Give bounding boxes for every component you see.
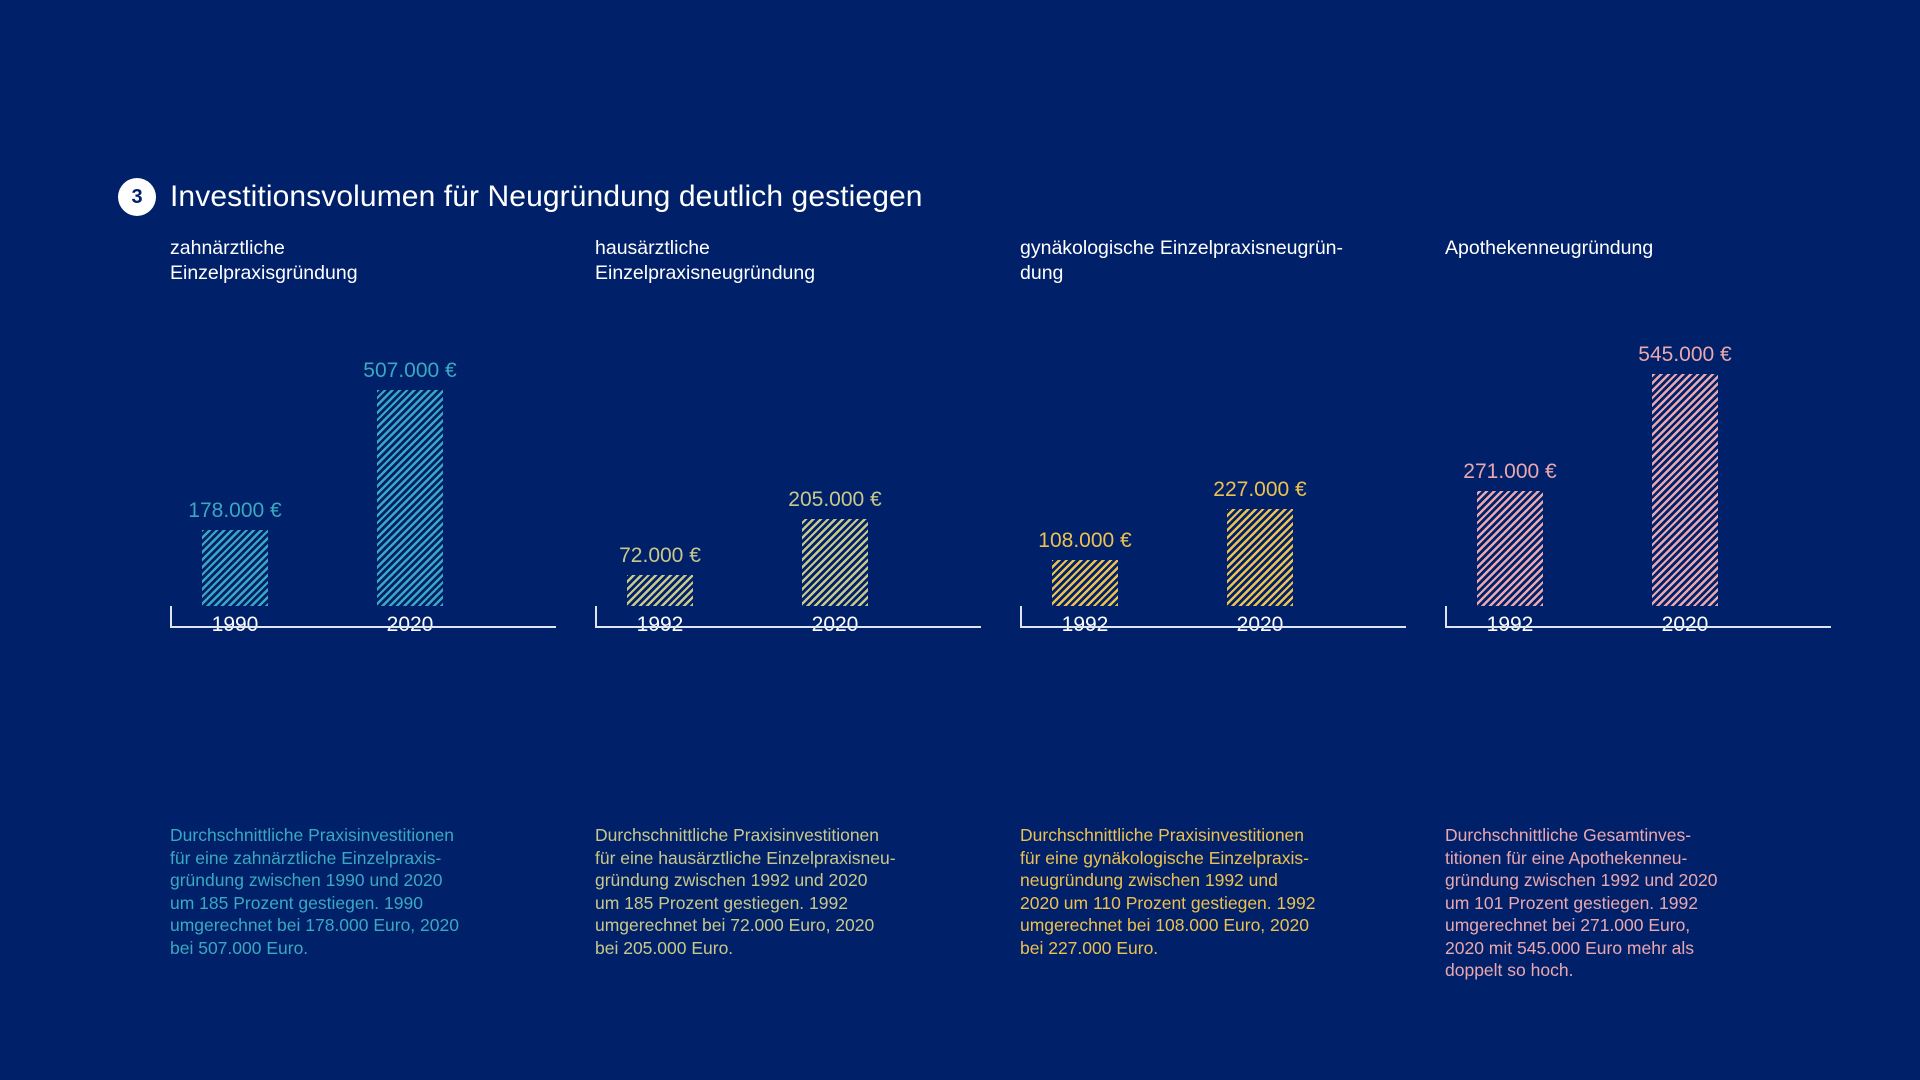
caption-line: für eine zahnärztliche Einzelpraxis- — [170, 847, 470, 870]
bar-value-label: 178.000 € — [188, 499, 281, 523]
caption-line: 2020 um 110 Prozent gestiegen. 1992 — [1020, 892, 1320, 915]
panel-header-line: hausärztliche — [595, 236, 975, 261]
plot-area: 199272.000 €2020205.000 € — [595, 334, 925, 606]
bar-group: 205.000 € — [802, 519, 868, 606]
axis-baseline — [1020, 626, 1406, 628]
axis-baseline — [595, 626, 981, 628]
plot-area: 1992108.000 €2020227.000 € — [1020, 334, 1350, 606]
bar-group: 108.000 € — [1052, 560, 1118, 606]
panel-chart-3: 1992271.000 €2020545.000 € — [1445, 332, 1870, 652]
plot-area: 1990178.000 €2020507.000 € — [170, 334, 500, 606]
caption-line: neugründung zwischen 1992 und — [1020, 869, 1320, 892]
bar — [377, 390, 443, 606]
bar-value-label: 545.000 € — [1638, 343, 1731, 367]
caption-line: Durchschnittliche Praxisinvestitionen — [595, 824, 895, 847]
caption-line: Durchschnittliche Praxisinvestitionen — [170, 824, 470, 847]
caption-line: umgerechnet bei 271.000 Euro, — [1445, 914, 1745, 937]
panel-header-line: Einzelpraxisneugründung — [595, 261, 975, 286]
bar-slot: 2020205.000 € — [780, 334, 910, 606]
panel-header-line: zahnärztliche — [170, 236, 550, 261]
caption-line: gründung zwischen 1990 und 2020 — [170, 869, 470, 892]
bar-group: 72.000 € — [627, 575, 693, 606]
panel-caption-1: Durchschnittliche Praxisinvestitionenfür… — [595, 824, 895, 959]
bar-value-label: 271.000 € — [1463, 460, 1556, 484]
panel-header-line: gynäkologische Einzelpraxisneugrün- — [1020, 236, 1400, 261]
caption-line: umgerechnet bei 178.000 Euro, 2020 — [170, 914, 470, 937]
panel-header-line: Apothekenneugründung — [1445, 236, 1825, 261]
bar — [202, 530, 268, 606]
caption-line: bei 507.000 Euro. — [170, 937, 470, 960]
caption-line: gründung zwischen 1992 und 2020 — [595, 869, 895, 892]
caption-line: für eine hausärztliche Einzelpraxisneu- — [595, 847, 895, 870]
bar — [627, 575, 693, 606]
bar-slot: 2020227.000 € — [1205, 334, 1335, 606]
caption-line: 2020 mit 545.000 Euro mehr als — [1445, 937, 1745, 960]
bar-slot: 1992108.000 € — [1030, 334, 1160, 606]
plot-area: 1992271.000 €2020545.000 € — [1445, 334, 1775, 606]
caption-line: gründung zwischen 1992 und 2020 — [1445, 869, 1745, 892]
bar — [1052, 560, 1118, 606]
bar-group: 545.000 € — [1652, 374, 1718, 606]
caption-line: um 101 Prozent gestiegen. 1992 — [1445, 892, 1745, 915]
caption-line: Durchschnittliche Gesamtinves- — [1445, 824, 1745, 847]
bar-value-label: 507.000 € — [363, 359, 456, 383]
caption-line: bei 205.000 Euro. — [595, 937, 895, 960]
bar-group: 271.000 € — [1477, 491, 1543, 606]
panel-caption-2: Durchschnittliche Praxisinvestitionenfür… — [1020, 824, 1320, 959]
bar-group: 227.000 € — [1227, 509, 1293, 606]
caption-line: bei 227.000 Euro. — [1020, 937, 1320, 960]
caption-line: umgerechnet bei 72.000 Euro, 2020 — [595, 914, 895, 937]
bar-value-label: 108.000 € — [1038, 529, 1131, 553]
page-title: Investitionsvolumen für Neugründung deut… — [170, 180, 923, 214]
axis-baseline — [1445, 626, 1831, 628]
chart-title-row: 3 Investitionsvolumen für Neugründung de… — [118, 178, 923, 216]
bar-value-label: 72.000 € — [619, 544, 701, 568]
bar-slot: 2020545.000 € — [1630, 334, 1760, 606]
chart-panel-0: zahnärztlicheEinzelpraxisgründung1990178… — [170, 236, 595, 652]
bar-slot: 2020507.000 € — [355, 334, 485, 606]
panel-chart-1: 199272.000 €2020205.000 € — [595, 332, 1020, 652]
panel-header-3: Apothekenneugründung — [1445, 236, 1825, 288]
caption-line: titionen für eine Apothekenneu- — [1445, 847, 1745, 870]
bar-slot: 1992271.000 € — [1455, 334, 1585, 606]
bar-value-label: 205.000 € — [788, 488, 881, 512]
panel-chart-2: 1992108.000 €2020227.000 € — [1020, 332, 1445, 652]
axis-baseline — [170, 626, 556, 628]
panel-caption-3: Durchschnittliche Gesamtinves-titionen f… — [1445, 824, 1745, 982]
bar — [1477, 491, 1543, 606]
panel-chart-0: 1990178.000 €2020507.000 € — [170, 332, 595, 652]
chart-axis — [595, 606, 981, 628]
bar-slot: 1990178.000 € — [180, 334, 310, 606]
bar-slot: 199272.000 € — [605, 334, 735, 606]
panel-header-line: Einzelpraxisgründung — [170, 261, 550, 286]
chart-axis — [1020, 606, 1406, 628]
bar — [802, 519, 868, 606]
panel-caption-0: Durchschnittliche Praxisinvestitionenfür… — [170, 824, 470, 959]
caption-line: umgerechnet bei 108.000 Euro, 2020 — [1020, 914, 1320, 937]
panel-header-1: hausärztlicheEinzelpraxisneugründung — [595, 236, 975, 288]
chart-axis — [1445, 606, 1831, 628]
bar — [1227, 509, 1293, 606]
panel-header-2: gynäkologische Einzelpraxisneugrün-dung — [1020, 236, 1400, 288]
chart-panel-3: Apothekenneugründung 1992271.000 €202054… — [1445, 236, 1870, 652]
panel-header-line: dung — [1020, 261, 1400, 286]
chart-panel-container: zahnärztlicheEinzelpraxisgründung1990178… — [170, 236, 1870, 652]
caption-line: doppelt so hoch. — [1445, 959, 1745, 982]
panel-header-line — [1445, 261, 1825, 286]
axis-tick — [1020, 606, 1022, 628]
axis-tick — [170, 606, 172, 628]
caption-line: um 185 Prozent gestiegen. 1990 — [170, 892, 470, 915]
caption-line: um 185 Prozent gestiegen. 1992 — [595, 892, 895, 915]
panel-header-0: zahnärztlicheEinzelpraxisgründung — [170, 236, 550, 288]
axis-tick — [1445, 606, 1447, 628]
chart-panel-2: gynäkologische Einzelpraxisneugrün-dung1… — [1020, 236, 1445, 652]
bar-group: 178.000 € — [202, 530, 268, 606]
bar — [1652, 374, 1718, 606]
bar-group: 507.000 € — [377, 390, 443, 606]
chart-number-badge: 3 — [118, 178, 156, 216]
bar-value-label: 227.000 € — [1213, 478, 1306, 502]
chart-panel-1: hausärztlicheEinzelpraxisneugründung1992… — [595, 236, 1020, 652]
axis-tick — [595, 606, 597, 628]
caption-line: Durchschnittliche Praxisinvestitionen — [1020, 824, 1320, 847]
caption-line: für eine gynäkologische Einzelpraxis- — [1020, 847, 1320, 870]
chart-axis — [170, 606, 556, 628]
